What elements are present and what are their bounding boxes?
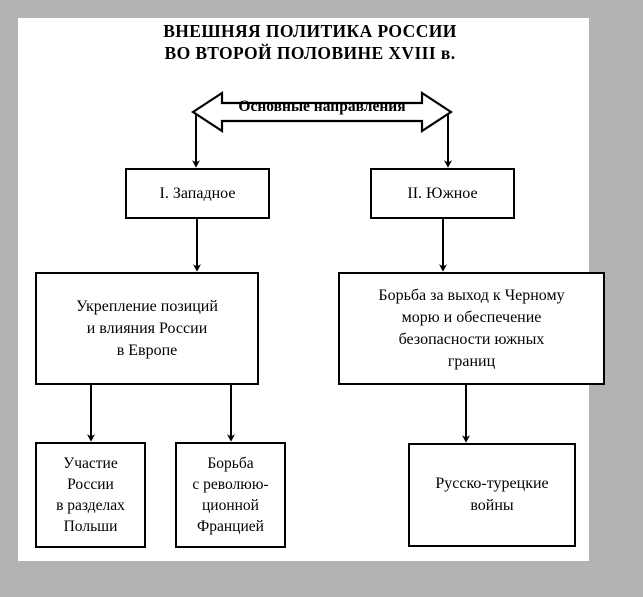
node-black-sea-access-label: Борьба за выход к Черному морю и обеспеч…	[378, 285, 564, 373]
node-west-direction-label: I. Западное	[160, 185, 236, 203]
page-title: ВНЕШНЯЯ ПОЛИТИКА РОССИИ ВО ВТОРОЙ ПОЛОВИ…	[60, 20, 560, 64]
diagram-page: ВНЕШНЯЯ ПОЛИТИКА РОССИИ ВО ВТОРОЙ ПОЛОВИ…	[0, 0, 643, 597]
node-south-direction: II. Южное	[370, 168, 515, 219]
node-russo-turkish-wars-label: Русско-турецкие войны	[435, 473, 548, 517]
node-russo-turkish-wars: Русско-турецкие войны	[408, 443, 576, 547]
node-strengthen-positions-europe: Укрепление позиций и влияния России в Ев…	[35, 272, 259, 385]
main-directions-label: Основные направления	[193, 98, 451, 116]
node-fight-revolutionary-france-label: Борьба с революю- ционной Францией	[192, 453, 268, 537]
node-partitions-of-poland: Участие России в разделах Польши	[35, 442, 146, 548]
node-west-direction: I. Западное	[125, 168, 270, 219]
node-south-direction-label: II. Южное	[407, 185, 477, 203]
page-title-line-2: ВО ВТОРОЙ ПОЛОВИНЕ XVIII в.	[60, 42, 560, 64]
node-fight-revolutionary-france: Борьба с революю- ционной Францией	[175, 442, 286, 548]
node-partitions-of-poland-label: Участие России в разделах Польши	[56, 453, 125, 537]
node-black-sea-access: Борьба за выход к Черному морю и обеспеч…	[338, 272, 605, 385]
node-strengthen-positions-europe-label: Укрепление позиций и влияния России в Ев…	[76, 296, 218, 362]
page-title-line-1: ВНЕШНЯЯ ПОЛИТИКА РОССИИ	[60, 20, 560, 42]
